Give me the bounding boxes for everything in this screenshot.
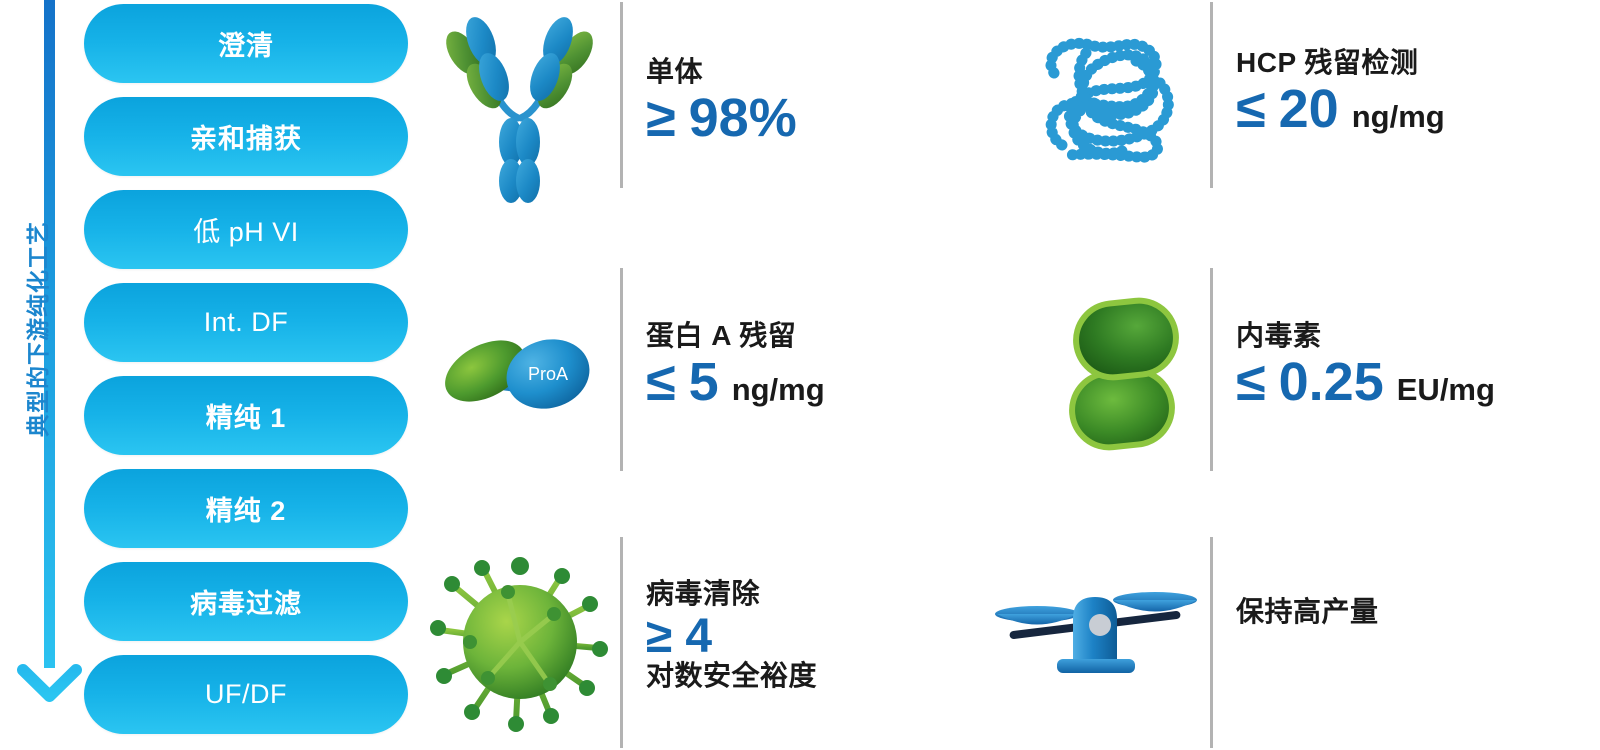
bacteria-icon [1058, 294, 1188, 454]
process-step-pill[interactable]: Int. DF [84, 283, 408, 362]
metric-sublabel: 对数安全裕度 [646, 661, 817, 692]
metric-value-row: ≥ 98% [646, 90, 797, 147]
process-step-list: 澄清 亲和捕获 低 pH VI Int. DF 精纯 1 精纯 2 病毒过滤 U… [84, 0, 408, 750]
metric-label: HCP 残留检测 [1236, 47, 1445, 79]
down-arrow-icon [16, 640, 83, 708]
metric-value-row: ≤ 20 ng/mg [1236, 81, 1445, 138]
metric-unit: ng/mg [1352, 101, 1445, 134]
antibody-icon [432, 14, 607, 194]
pill-label: 澄清 [218, 24, 274, 63]
protein-tangle-icon [1032, 25, 1187, 170]
metric-number: 98% [689, 90, 797, 147]
metric-label: 病毒清除 [646, 578, 817, 610]
metric-operator: ≥ [646, 90, 676, 147]
process-step-pill[interactable]: 澄清 [84, 4, 408, 83]
pill-label: UF/DF [205, 679, 287, 710]
process-step-pill[interactable]: 低 pH VI [84, 190, 408, 269]
column-divider [1210, 268, 1213, 471]
metric-text-hcp: HCP 残留检测 ≤ 20 ng/mg [1236, 47, 1445, 138]
balance-scale-icon [995, 585, 1195, 675]
metric-value-row: ≤ 5 ng/mg [646, 354, 825, 411]
infographic-canvas: 典型的下游纯化工艺 澄清 亲和捕获 低 pH VI Int. DF 精纯 1 精… [0, 0, 1600, 750]
virus-icon [430, 546, 610, 736]
metric-operator: ≤ [1236, 81, 1266, 138]
metric-number: 0.25 [1279, 354, 1384, 411]
process-step-pill[interactable]: 精纯 2 [84, 469, 408, 548]
metric-unit: EU/mg [1397, 374, 1495, 407]
pill-label: 病毒过滤 [190, 582, 302, 621]
metric-label: 内毒素 [1236, 320, 1495, 352]
metric-number: 5 [689, 354, 719, 411]
process-axis: 典型的下游纯化工艺 [0, 0, 90, 750]
pill-label: 精纯 2 [206, 489, 287, 528]
metric-operator: ≤ [646, 354, 676, 411]
metric-operator: ≥ [646, 612, 672, 662]
metric-value-row: ≤ 0.25 EU/mg [1236, 354, 1495, 411]
metric-text-protein-a: 蛋白 A 残留 ≤ 5 ng/mg [646, 320, 825, 411]
metric-operator: ≤ [1236, 354, 1266, 411]
column-divider [620, 268, 623, 471]
metric-label: 蛋白 A 残留 [646, 320, 825, 352]
metric-unit: ng/mg [732, 374, 825, 407]
metric-label: 保持高产量 [1236, 596, 1379, 628]
pill-label: 低 pH VI [193, 210, 299, 249]
process-step-pill[interactable]: UF/DF [84, 655, 408, 734]
pill-label: 亲和捕获 [190, 117, 302, 156]
metric-text-virus: 病毒清除 ≥ 4 对数安全裕度 [646, 578, 817, 691]
column-divider [1210, 2, 1213, 188]
pill-label: 精纯 1 [206, 396, 287, 435]
metric-number: 4 [685, 612, 712, 662]
process-step-pill[interactable]: 亲和捕获 [84, 97, 408, 176]
metric-text-endotoxin: 内毒素 ≤ 0.25 EU/mg [1236, 320, 1495, 411]
process-step-pill[interactable]: 精纯 1 [84, 376, 408, 455]
column-divider [620, 537, 623, 748]
metric-text-monomer: 单体 ≥ 98% [646, 56, 797, 147]
proa-label: ProA [528, 364, 568, 384]
metric-text-yield: 保持高产量 [1236, 596, 1379, 628]
metric-number: 20 [1279, 81, 1339, 138]
axis-label: 典型的下游纯化工艺 [19, 189, 53, 469]
metric-value-row: ≥ 4 [646, 612, 817, 662]
pill-label: Int. DF [204, 307, 289, 338]
column-divider [1210, 537, 1213, 748]
protein-a-icon: ProA [438, 316, 598, 426]
metric-label: 单体 [646, 56, 797, 88]
process-step-pill[interactable]: 病毒过滤 [84, 562, 408, 641]
column-divider [620, 2, 623, 188]
